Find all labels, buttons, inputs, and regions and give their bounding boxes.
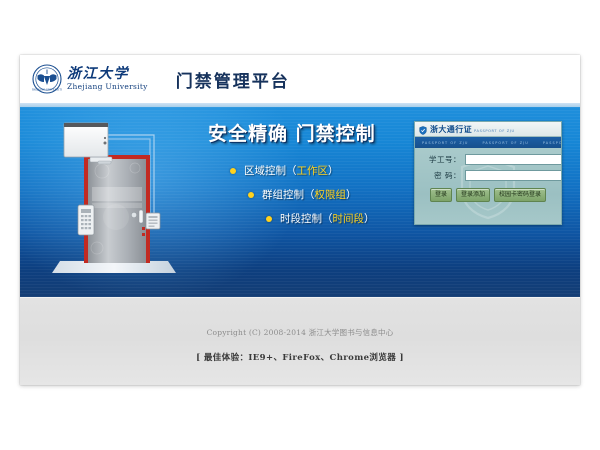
list-item: 群组控制（ 权限组 ）: [248, 187, 428, 202]
campus-card-login-button[interactable]: 校园卡密码登录: [494, 188, 546, 202]
page-title: 门禁管理平台: [176, 67, 290, 92]
feature-bullet-list: 区域控制（ 工作区 ） 群组控制（ 权限组 ） 时段控制（ 时间段: [208, 163, 428, 226]
login-add-button[interactable]: 登录添加: [456, 188, 490, 202]
password-input[interactable]: [465, 170, 562, 181]
username-field-row: 学工号：: [421, 154, 555, 165]
bullet-prefix: 区域控制（: [244, 163, 297, 178]
list-item: 时段控制（ 时间段 ）: [266, 211, 428, 226]
login-button-row: 登录 登录添加 校园卡密码登录: [421, 188, 555, 202]
bullet-highlight: 工作区: [297, 163, 329, 178]
login-panel-title: 浙大通行证: [430, 124, 472, 135]
bullet-dot-icon: [248, 192, 254, 198]
page-root: ZHEJIANG UNIVERSITY 浙江大学 Zhejiang Univer…: [0, 0, 600, 450]
band-text: PASSPORT OF ZJU: [475, 141, 535, 145]
access-control-door-illustration: [42, 113, 192, 293]
bullet-highlight: 时间段: [333, 211, 365, 226]
site-footer: Copyright (C) 2008-2014 浙江大学图书与信息中心 [ 最佳…: [20, 297, 580, 385]
slogan-block: 安全精确 门禁控制 区域控制（ 工作区 ） 群组控制（ 权限组 ）: [208, 119, 428, 242]
shield-icon: [419, 121, 427, 139]
login-button[interactable]: 登录: [430, 188, 452, 202]
logo-wordmark: 浙江大学 Zhejiang University: [67, 67, 148, 91]
bullet-highlight: 权限组: [315, 187, 347, 202]
bullet-dot-icon: [266, 216, 272, 222]
copyright-text: Copyright (C) 2008-2014 浙江大学图书与信息中心: [20, 298, 580, 338]
username-label: 学工号：: [421, 154, 465, 165]
bullet-prefix: 时段控制（: [280, 211, 333, 226]
login-panel-subtitle: PASSPORT OF ZJU: [474, 129, 515, 133]
login-form: 学工号： 密 码： 登录 登录添加 校园卡密码登录: [415, 148, 561, 225]
hero-banner: 安全精确 门禁控制 区域控制（ 工作区 ） 群组控制（ 权限组 ）: [20, 107, 580, 297]
app-window: ZHEJIANG UNIVERSITY 浙江大学 Zhejiang Univer…: [20, 55, 580, 385]
browser-compatibility-note: [ 最佳体验：IE9+、FireFox、Chrome浏览器 ]: [20, 351, 580, 363]
bullet-dot-icon: [230, 168, 236, 174]
university-name-cn: 浙江大学: [67, 67, 148, 81]
banner-slogan: 安全精确 门禁控制: [208, 119, 428, 146]
university-name-en: Zhejiang University: [67, 83, 148, 91]
password-field-row: 密 码：: [421, 170, 555, 181]
site-header: ZHEJIANG UNIVERSITY 浙江大学 Zhejiang Univer…: [20, 55, 580, 103]
bullet-suffix: ）: [346, 187, 357, 202]
bullet-prefix: 群组控制（: [262, 187, 315, 202]
login-panel-titlebar: 浙大通行证 PASSPORT OF ZJU: [415, 122, 561, 137]
bullet-suffix: ）: [364, 211, 375, 226]
band-text: PASSPORT OF ZJU: [536, 141, 561, 145]
username-input[interactable]: [465, 154, 562, 165]
zju-seal-icon: ZHEJIANG UNIVERSITY: [32, 64, 62, 94]
list-item: 区域控制（ 工作区 ）: [230, 163, 428, 178]
svg-text:ZHEJIANG UNIVERSITY: ZHEJIANG UNIVERSITY: [32, 88, 62, 91]
login-panel: 浙大通行证 PASSPORT OF ZJU PASSPORT OF ZJU PA…: [414, 121, 562, 225]
passport-watermark-band: PASSPORT OF ZJU PASSPORT OF ZJU PASSPORT…: [415, 137, 561, 148]
bullet-suffix: ）: [328, 163, 339, 178]
band-text: PASSPORT OF ZJU: [415, 141, 475, 145]
password-label: 密 码：: [421, 170, 465, 181]
